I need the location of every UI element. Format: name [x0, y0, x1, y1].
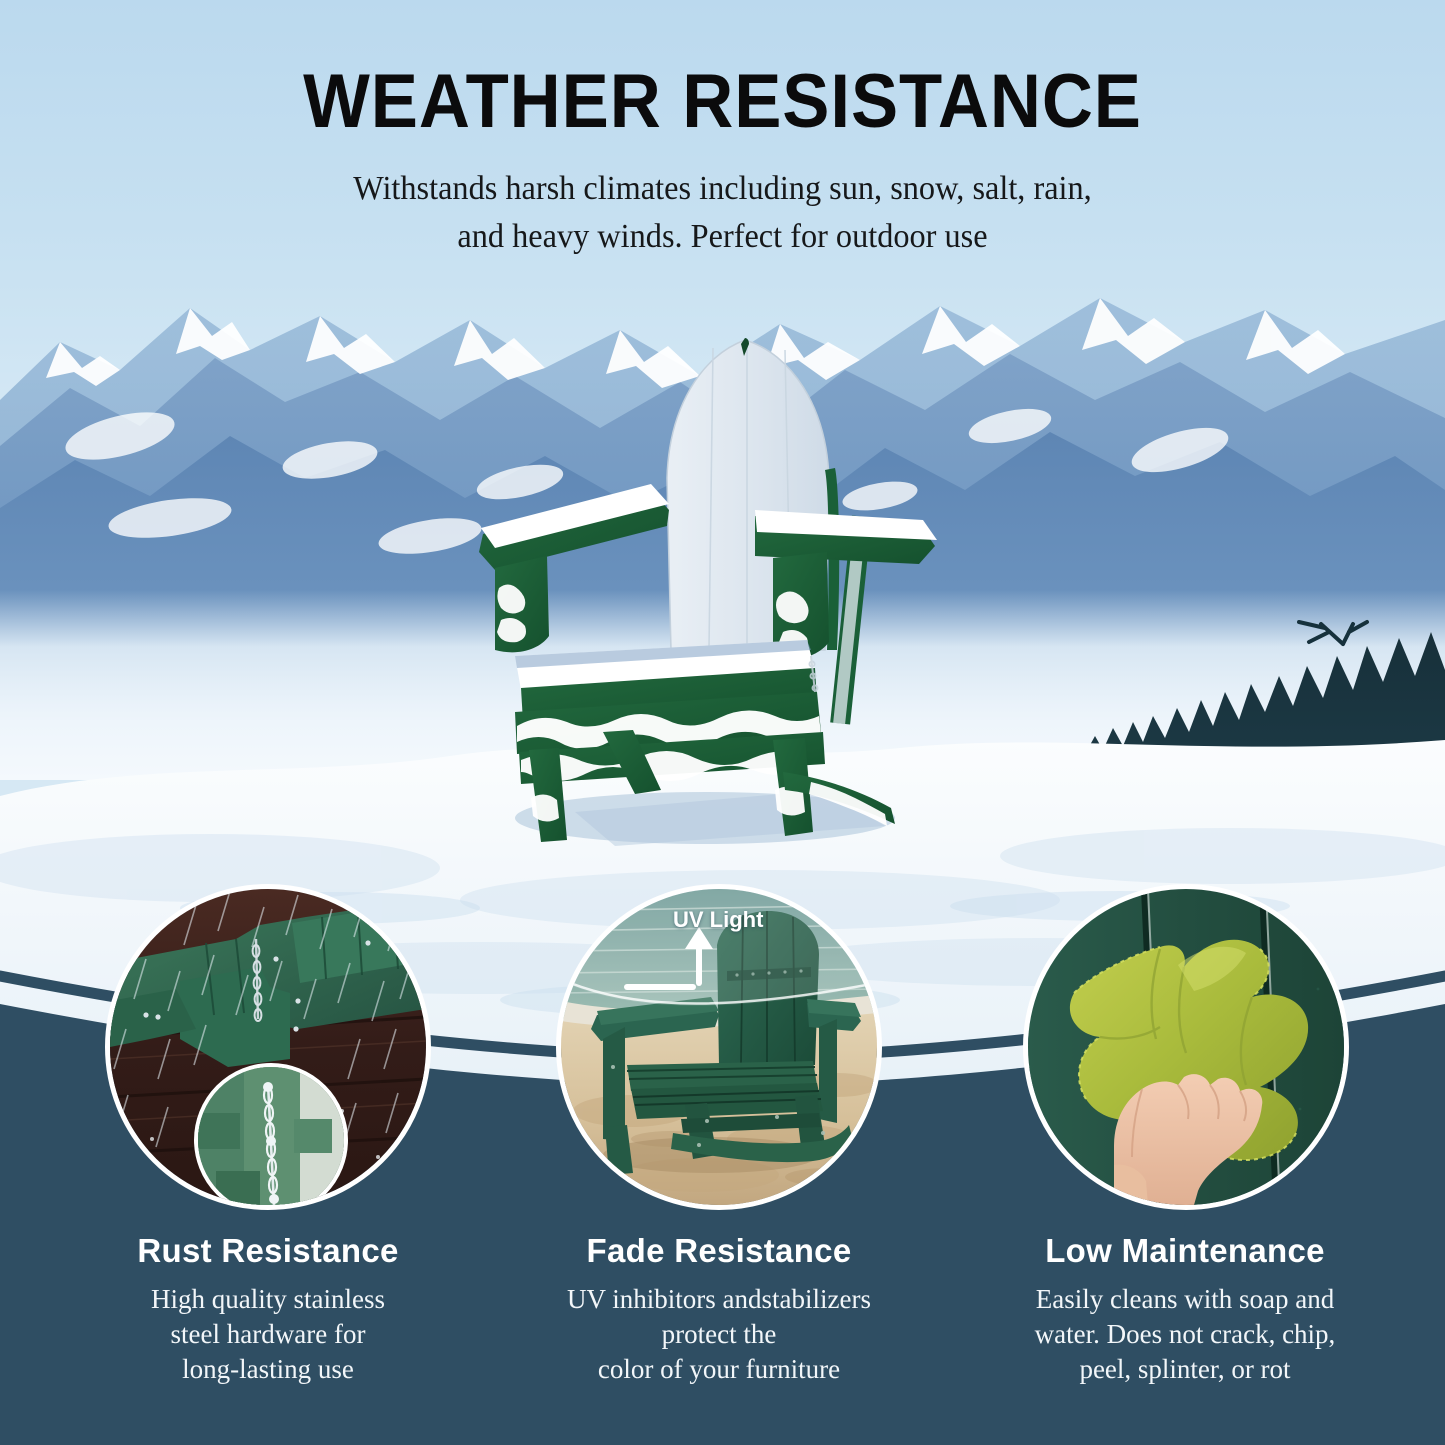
feature-title-rust-resistance: Rust Resistance	[78, 1232, 458, 1270]
page-subtitle-line2: and heavy winds. Perfect for outdoor use	[36, 213, 1409, 261]
uv-light-arrow-icon	[621, 925, 741, 1005]
feature-text-fade-resistance: Fade Resistance UV inhibitors andstabili…	[534, 1232, 904, 1387]
feature-image-fade-resistance: UV Light	[556, 884, 882, 1210]
page-subtitle: Withstands harsh climates including sun,…	[36, 165, 1409, 262]
feature-desc-line: peel, splinter, or rot	[985, 1352, 1385, 1387]
page-title: WEATHER RESISTANCE	[51, 62, 1395, 143]
feature-desc-fade-resistance: UV inhibitors andstabilizers protect the…	[534, 1282, 904, 1387]
hero-snow-covered-chair	[455, 320, 955, 860]
feature-desc-line: UV inhibitors andstabilizers	[534, 1282, 904, 1317]
feature-desc-line: protect the	[534, 1317, 904, 1352]
feature-desc-line: long-lasting use	[78, 1352, 458, 1387]
feature-desc-line: color of your furniture	[534, 1352, 904, 1387]
feature-desc-low-maintenance: Easily cleans with soap and water. Does …	[985, 1282, 1385, 1387]
feature-text-low-maintenance: Low Maintenance Easily cleans with soap …	[985, 1232, 1385, 1387]
feature-desc-line: water. Does not crack, chip,	[985, 1317, 1385, 1352]
feature-image-low-maintenance	[1023, 884, 1349, 1210]
feature-title-fade-resistance: Fade Resistance	[534, 1232, 904, 1270]
feature-image-rust-resistance	[105, 884, 431, 1210]
feature-desc-line: High quality stainless	[78, 1282, 458, 1317]
header-block: WEATHER RESISTANCE Withstands harsh clim…	[0, 62, 1445, 261]
page-subtitle-line1: Withstands harsh climates including sun,…	[36, 165, 1409, 213]
uv-light-label: UV Light	[673, 907, 763, 933]
feature-text-rust-resistance: Rust Resistance High quality stainless s…	[78, 1232, 458, 1387]
chain-closeup-inset	[194, 1063, 348, 1210]
feature-desc-line: Easily cleans with soap and	[985, 1282, 1385, 1317]
product-feature-graphic: WEATHER RESISTANCE Withstands harsh clim…	[0, 0, 1445, 1445]
feature-desc-line: steel hardware for	[78, 1317, 458, 1352]
feature-desc-rust-resistance: High quality stainless steel hardware fo…	[78, 1282, 458, 1387]
feature-title-low-maintenance: Low Maintenance	[985, 1232, 1385, 1270]
